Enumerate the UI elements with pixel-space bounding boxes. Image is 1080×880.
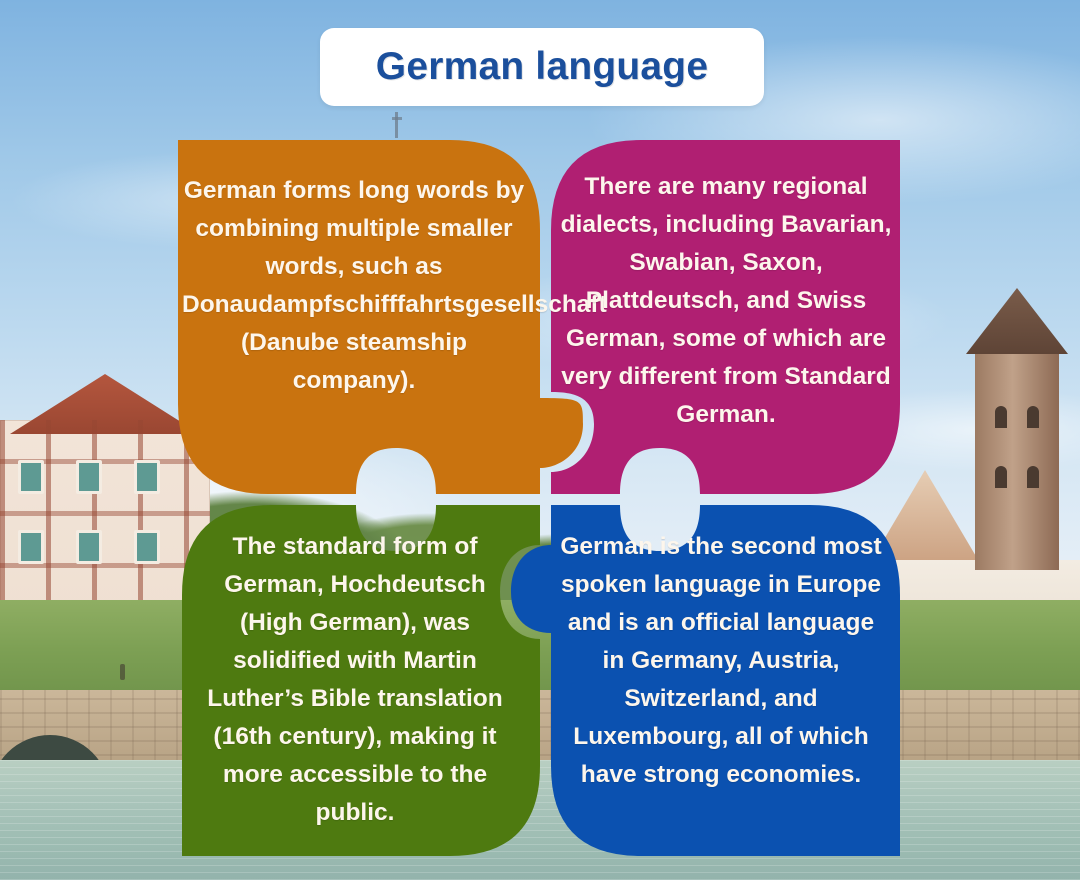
infographic-canvas: German language German forms long words … bbox=[0, 0, 1080, 880]
panel-text-green: The standard form of German, Hochdeutsch… bbox=[190, 528, 520, 832]
panel-text-orange: German forms long words by combining mul… bbox=[182, 172, 526, 400]
puzzle-board: German forms long words by combining mul… bbox=[0, 0, 1080, 880]
panel-text-magenta: There are many regional dialects, includ… bbox=[556, 168, 896, 434]
puzzle-shapes bbox=[0, 0, 1080, 880]
panel-text-blue: German is the second most spoken languag… bbox=[556, 528, 886, 794]
